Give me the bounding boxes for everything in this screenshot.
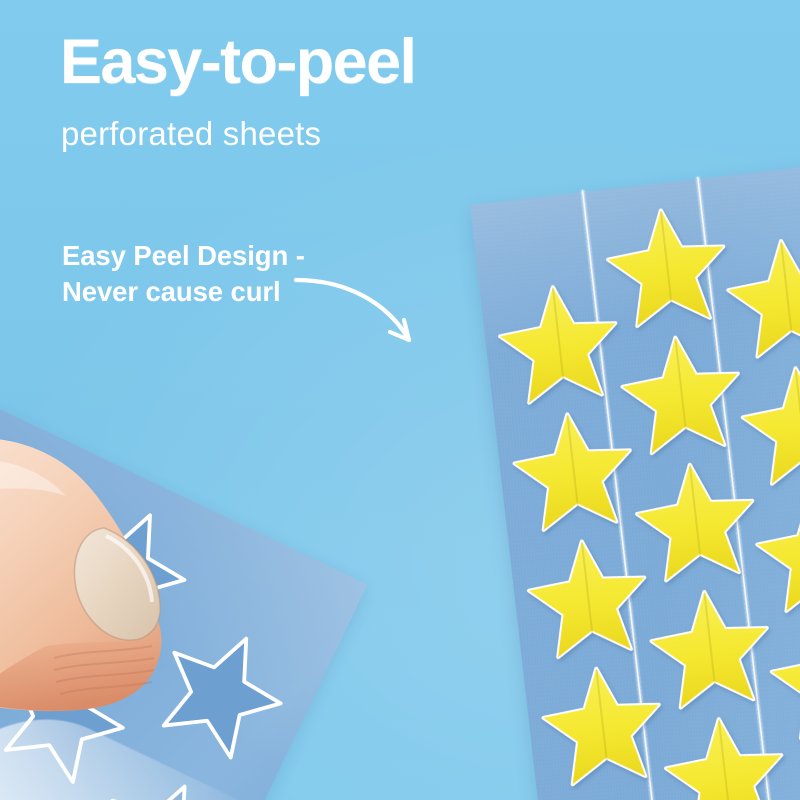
curved-arrow-icon <box>286 262 436 357</box>
feature-callout-text: Easy Peel Design - Never cause curl <box>62 238 305 310</box>
page-title: Easy-to-peel <box>60 31 415 94</box>
star-sticker <box>598 198 737 337</box>
promo-image: Easy-to-peel perforated sheets Easy Peel… <box>0 0 800 800</box>
thumb-peeling-sheet <box>0 432 222 732</box>
star-sticker <box>718 229 800 368</box>
page-subtitle: perforated sheets <box>61 117 321 150</box>
